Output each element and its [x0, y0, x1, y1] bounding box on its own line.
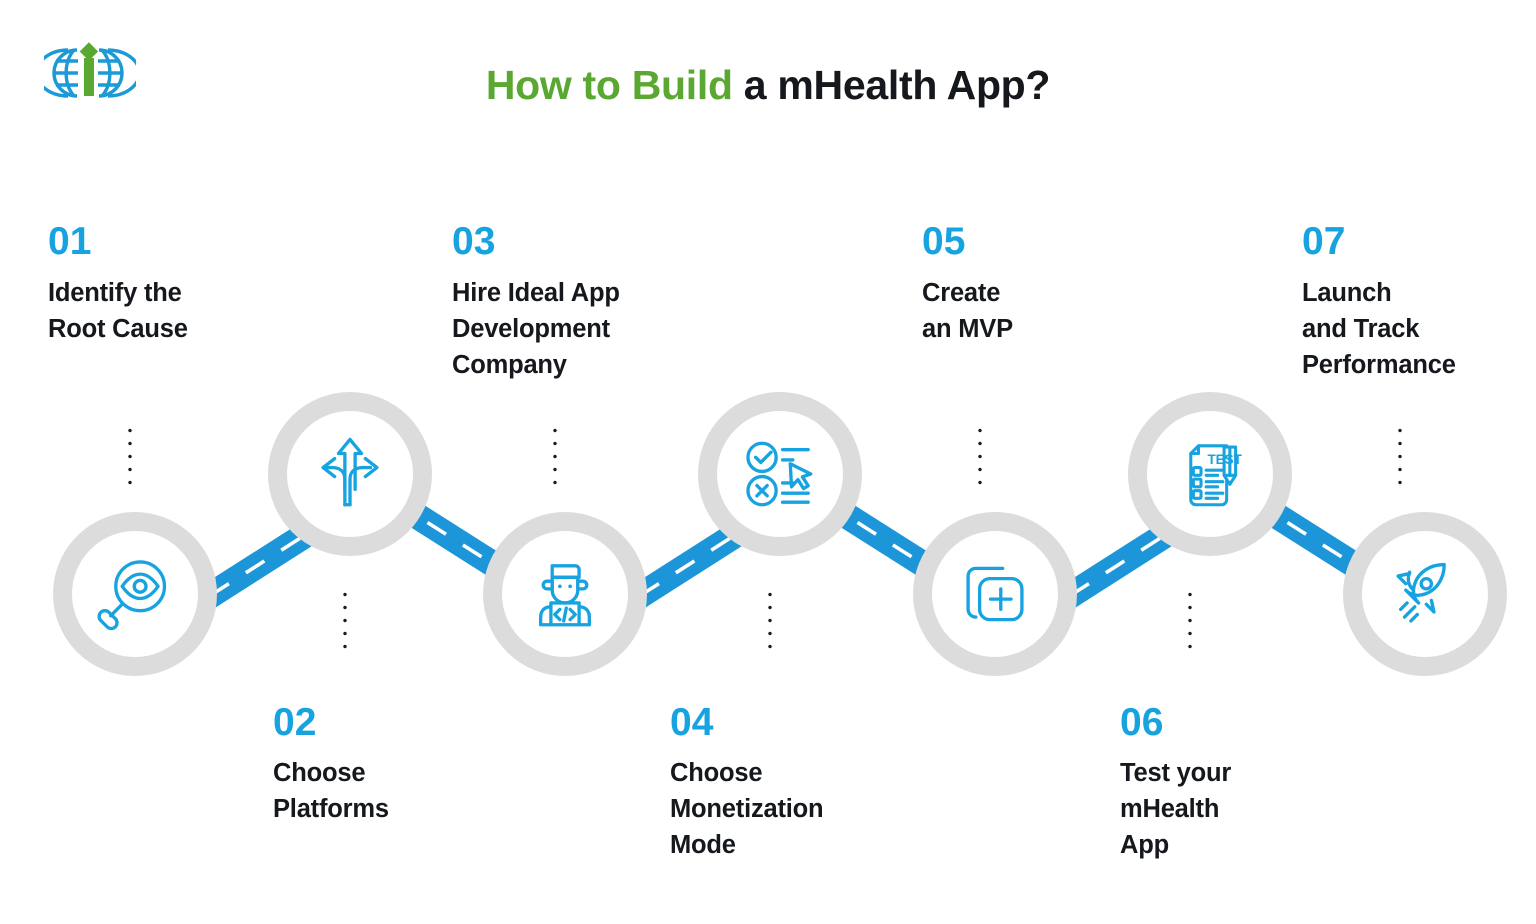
node-step-03[interactable]	[483, 512, 647, 676]
step-text-05: Createan MVP	[922, 275, 1152, 347]
step-label-07: 07 Launchand TrackPerformance	[1302, 222, 1502, 384]
infographic-page: How to Build a mHealth App?	[0, 0, 1536, 924]
developer-code-icon	[524, 553, 606, 635]
node-step-01[interactable]	[53, 512, 217, 676]
dot-connector-02	[343, 588, 347, 656]
dot-connector-04	[768, 588, 772, 656]
step-number-07: 07	[1302, 222, 1502, 261]
dot-connector-05	[978, 424, 982, 492]
test-label-text: TEST	[1207, 452, 1242, 467]
step-text-02: ChoosePlatforms	[273, 755, 503, 827]
step-label-01: 01 Identify theRoot Cause	[48, 222, 278, 347]
step-text-03: Hire Ideal AppDevelopmentCompany	[452, 275, 697, 384]
step-text-04: ChooseMonetizationMode	[670, 755, 885, 864]
dot-connector-06	[1188, 588, 1192, 656]
dot-connector-03	[553, 424, 557, 492]
step-label-04: 04 ChooseMonetizationMode	[670, 703, 885, 864]
node-step-06[interactable]: TEST	[1128, 392, 1292, 556]
step-number-02: 02	[273, 703, 503, 742]
step-number-01: 01	[48, 222, 278, 261]
step-text-07: Launchand TrackPerformance	[1302, 275, 1502, 384]
step-label-05: 05 Createan MVP	[922, 222, 1152, 347]
three-way-arrow-icon	[309, 433, 391, 515]
node-step-05[interactable]	[913, 512, 1077, 676]
magnifier-eye-icon	[94, 553, 176, 635]
check-cross-cursor-icon	[739, 433, 821, 515]
step-number-05: 05	[922, 222, 1152, 261]
step-text-06: Test yourmHealthApp	[1120, 755, 1350, 864]
step-number-03: 03	[452, 222, 697, 261]
node-step-07[interactable]	[1343, 512, 1507, 676]
step-number-04: 04	[670, 703, 885, 742]
test-checklist-pencil-icon: TEST	[1169, 433, 1251, 515]
dot-connector-07	[1398, 424, 1402, 492]
dot-connector-01	[128, 424, 132, 492]
step-label-06: 06 Test yourmHealthApp	[1120, 703, 1350, 864]
add-card-plus-icon	[954, 553, 1036, 635]
node-step-04[interactable]	[698, 392, 862, 556]
step-text-01: Identify theRoot Cause	[48, 275, 278, 347]
rocket-launch-icon	[1384, 553, 1466, 635]
step-label-03: 03 Hire Ideal AppDevelopmentCompany	[452, 222, 697, 384]
step-number-06: 06	[1120, 703, 1350, 742]
step-label-02: 02 ChoosePlatforms	[273, 703, 503, 827]
node-step-02[interactable]	[268, 392, 432, 556]
